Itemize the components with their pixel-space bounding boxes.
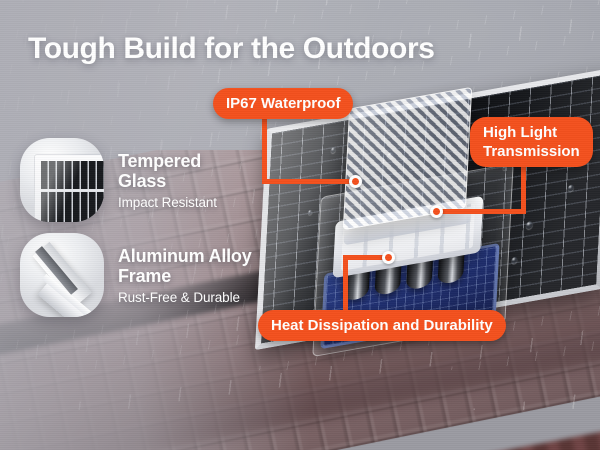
feature-text: Aluminum Alloy Frame Rust-Free & Durable: [118, 246, 252, 305]
banner-stage: Tough Build for the Outdoors Tempered Gl…: [0, 0, 600, 450]
callout-ip67-line-horizontal: [262, 179, 358, 184]
callout-ip67-dot: [349, 175, 362, 188]
feature-subtitle: Rust-Free & Durable: [118, 290, 252, 305]
feature-text: Tempered Glass Impact Resistant: [118, 151, 217, 210]
callout-hlt-line-horizontal: [438, 209, 526, 214]
callout-high-light-transmission[interactable]: High Light Transmission: [470, 117, 593, 167]
callout-heat-dot: [382, 251, 395, 264]
page-title: Tough Build for the Outdoors: [28, 32, 435, 66]
icon-panel-gloss: [34, 154, 104, 222]
feature-title-line1: Tempered: [118, 151, 217, 171]
feature-title-line2: Frame: [118, 266, 252, 286]
callout-ip67[interactable]: IP67 Waterproof: [213, 88, 353, 119]
feature-title-line2: Glass: [118, 171, 217, 191]
callout-ip67-line-vertical: [262, 112, 267, 184]
feature-tempered-glass: Tempered Glass Impact Resistant: [20, 138, 217, 222]
callout-hlt-dot: [430, 205, 443, 218]
feature-aluminum-frame: Aluminum Alloy Frame Rust-Free & Durable: [20, 233, 252, 317]
icon-alu-shape: [20, 233, 104, 317]
aluminum-frame-corner-icon: [20, 233, 104, 317]
callout-hlt-line-vertical: [521, 160, 526, 213]
tempered-glass-panel-icon: [20, 138, 104, 222]
callout-heat-dissipation[interactable]: Heat Dissipation and Durability: [258, 310, 506, 341]
feature-title-line1: Aluminum Alloy: [118, 246, 252, 266]
feature-subtitle: Impact Resistant: [118, 195, 217, 210]
callout-heat-line-vertical: [343, 258, 348, 316]
